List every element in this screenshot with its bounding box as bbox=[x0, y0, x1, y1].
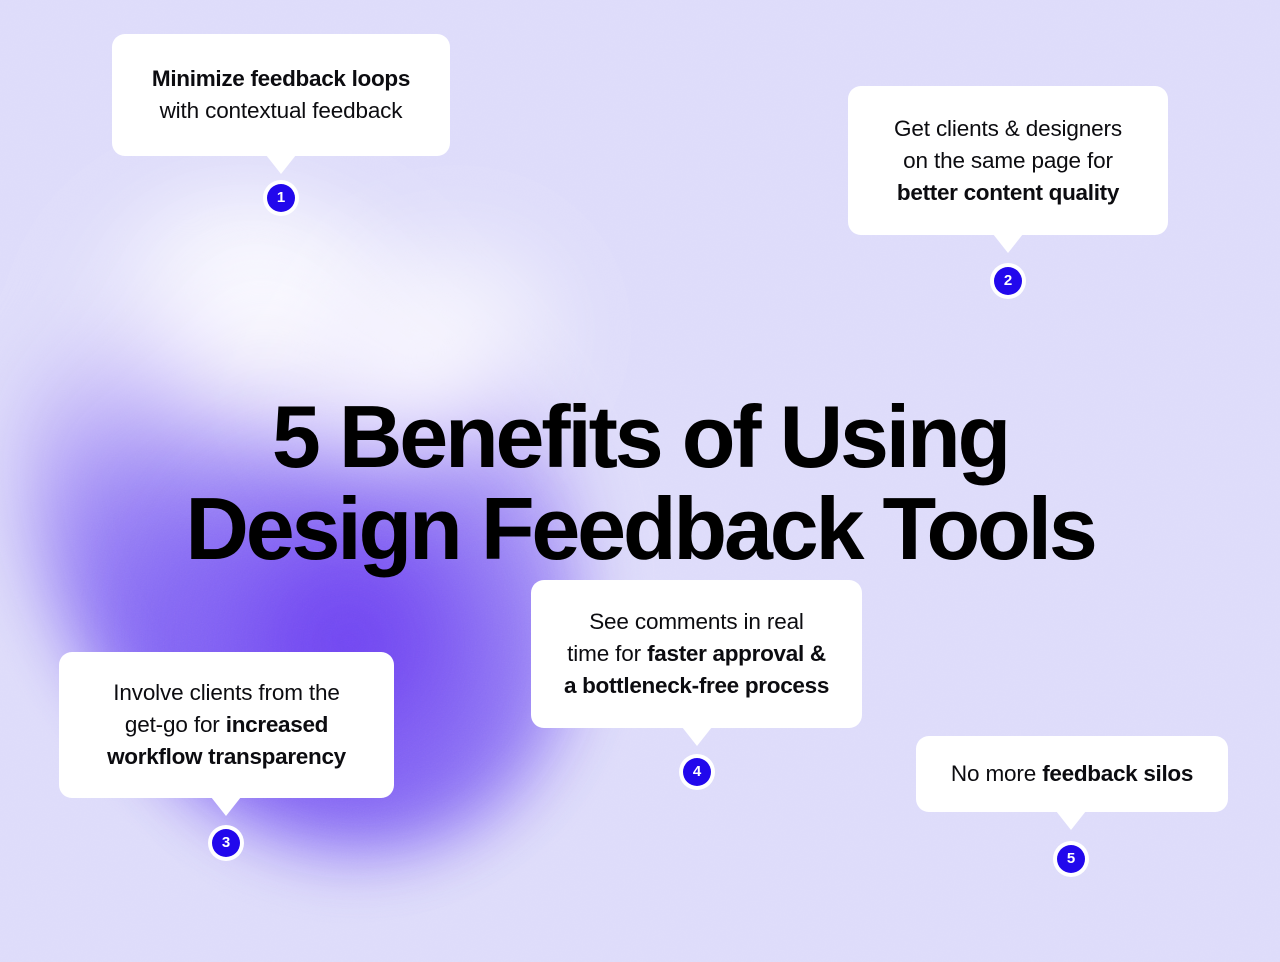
callout-text-5: No more feedback silos bbox=[935, 758, 1209, 790]
callout-card-1: Minimize feedback loopswith contextual f… bbox=[112, 34, 450, 156]
callout-badge-2: 2 bbox=[990, 263, 1026, 299]
callout-text-1: Minimize feedback loopswith contextual f… bbox=[136, 63, 426, 127]
callout-card-4: See comments in realtime for faster appr… bbox=[531, 580, 862, 728]
callout-card-5: No more feedback silos bbox=[916, 736, 1228, 812]
callout-text-3: Involve clients from theget-go for incre… bbox=[91, 677, 362, 773]
callout-badge-number-4: 4 bbox=[683, 758, 711, 786]
callout-tail-4 bbox=[682, 727, 712, 746]
page-title: 5 Benefits of Using Design Feedback Tool… bbox=[0, 391, 1280, 575]
callout-badge-number-5: 5 bbox=[1057, 845, 1085, 873]
infographic-canvas: 5 Benefits of Using Design Feedback Tool… bbox=[0, 0, 1280, 962]
callout-badge-number-1: 1 bbox=[267, 184, 295, 212]
callout-card-3: Involve clients from theget-go for incre… bbox=[59, 652, 394, 798]
callout-badge-number-3: 3 bbox=[212, 829, 240, 857]
callout-tail-1 bbox=[266, 155, 296, 174]
callout-badge-3: 3 bbox=[208, 825, 244, 861]
callout-tail-3 bbox=[211, 797, 241, 816]
callout-tail-5 bbox=[1056, 811, 1086, 830]
callout-text-2: Get clients & designerson the same page … bbox=[878, 113, 1138, 209]
callout-text-4: See comments in realtime for faster appr… bbox=[548, 606, 845, 702]
callout-badge-number-2: 2 bbox=[994, 267, 1022, 295]
callout-badge-4: 4 bbox=[679, 754, 715, 790]
callout-badge-5: 5 bbox=[1053, 841, 1089, 877]
callout-tail-2 bbox=[993, 234, 1023, 253]
callout-badge-1: 1 bbox=[263, 180, 299, 216]
callout-card-2: Get clients & designerson the same page … bbox=[848, 86, 1168, 235]
